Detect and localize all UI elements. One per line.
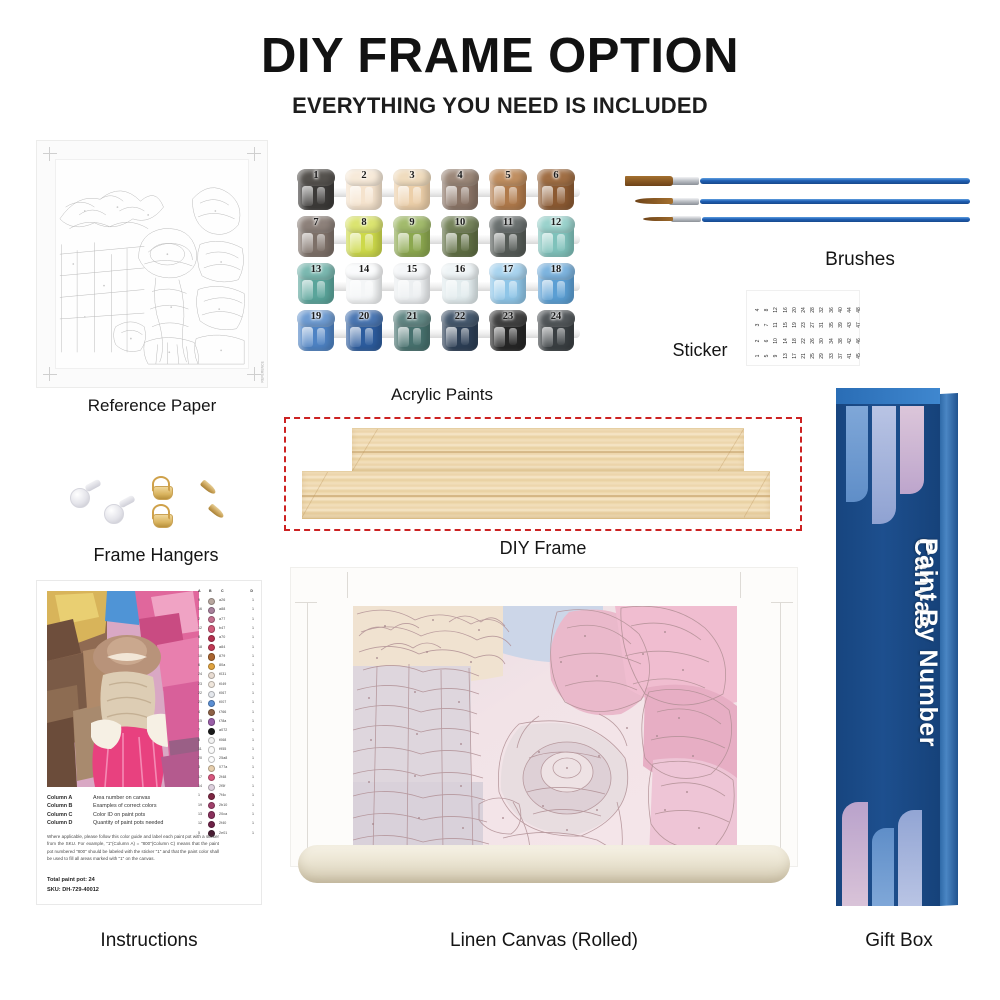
legend-area-number: 15	[198, 719, 202, 723]
acrylic-paints-group: 123456789101112131415161718192021222324	[296, 168, 588, 364]
sticker-number-15: 15	[783, 320, 789, 330]
paint-pot-highlight-2	[365, 328, 373, 345]
paint-pot-highlight	[542, 233, 553, 253]
sticker-number-22: 22	[801, 336, 807, 346]
legend-area-number: 17	[198, 775, 202, 779]
paint-pot-highlight	[302, 186, 313, 206]
legend-quantity: 1	[252, 803, 254, 807]
paint-pot-highlight-2	[317, 281, 325, 298]
paint-pot-number: 20	[344, 311, 384, 322]
legend-color-swatch	[208, 765, 215, 772]
sticker-number-12: 12	[773, 305, 779, 315]
gift-box-subtitle: Paint By Number	[872, 538, 940, 747]
sticker-number-4: 4	[755, 305, 761, 315]
legend-area-number: 20	[198, 756, 202, 760]
caption-diy-frame: DIY Frame	[284, 538, 802, 559]
instruction-column-row: Column DQuantity of paint pots needed	[47, 820, 199, 828]
legend-color-swatch	[208, 607, 215, 614]
legend-color-id: a26	[219, 598, 225, 602]
sticker-number-13: 13	[783, 351, 789, 361]
legend-color-id: 2f5f	[219, 784, 225, 788]
linen-canvas-image	[290, 567, 798, 905]
paint-pot-19: 19	[296, 310, 336, 352]
sticker-number-26: 26	[810, 336, 816, 346]
paint-pot-highlight-2	[461, 281, 469, 298]
paint-pot-highlight-2	[365, 281, 373, 298]
brushes-group	[625, 172, 970, 234]
legend-quantity: 1	[252, 682, 254, 686]
paint-pot-highlight-2	[557, 187, 565, 204]
legend-color-id: a70	[219, 635, 225, 639]
sticker-number-24: 24	[801, 305, 807, 315]
legend-color-swatch	[208, 811, 215, 818]
brush-flat	[625, 176, 970, 186]
caption-sticker: Sticker	[650, 340, 750, 361]
paint-pot-highlight	[350, 327, 361, 347]
sticker-number-16: 16	[783, 305, 789, 315]
sticker-number-5: 5	[764, 351, 770, 361]
legend-area-number: 16	[198, 607, 202, 611]
sticker-number-28: 28	[810, 305, 816, 315]
paint-pot-highlight	[542, 186, 553, 206]
screw-1	[200, 479, 218, 495]
paint-pot-22: 22	[440, 310, 480, 352]
legend-row: 15t78a1	[197, 718, 255, 727]
sticker-number-40: 40	[838, 305, 844, 315]
instruction-column-key: Column B	[47, 803, 72, 809]
legend-row: 12b471	[197, 625, 255, 634]
legend-color-swatch	[208, 756, 215, 763]
sticker-number-32: 32	[819, 305, 825, 315]
paint-pot-5: 5	[488, 169, 528, 211]
paint-pot-11: 11	[488, 216, 528, 258]
brush-liner	[625, 214, 970, 224]
legend-quantity: 1	[252, 691, 254, 695]
legend-header-row: A B C D	[197, 589, 255, 596]
paint-pot-highlight-2	[317, 328, 325, 345]
legend-row: 18a841	[197, 644, 255, 653]
sticker-number-27: 27	[810, 320, 816, 330]
legend-color-id: t007	[219, 700, 226, 704]
paint-pot-17: 17	[488, 263, 528, 305]
paint-pot-number: 24	[536, 311, 576, 322]
paint-pot-16: 16	[440, 263, 480, 305]
paint-pot-highlight-2	[317, 234, 325, 251]
paint-pot-highlight-2	[509, 281, 517, 298]
paint-pot-row: 192021222324	[296, 309, 588, 353]
paint-pot-highlight-2	[557, 281, 565, 298]
instructions-note: Where applicable, please follow this col…	[47, 833, 219, 862]
legend-color-id: 2b10	[219, 803, 227, 807]
sticker-number-7: 7	[764, 320, 770, 330]
reference-paper-side-text: REFERENCE	[260, 361, 264, 382]
caption-acrylic-paints: Acrylic Paints	[296, 385, 588, 405]
legend-header-c: C	[221, 589, 224, 593]
sticker-number-39: 39	[838, 320, 844, 330]
legend-header-b: B	[209, 589, 212, 593]
legend-quantity: 1	[252, 728, 254, 732]
paint-pot-number: 3	[392, 170, 432, 181]
paint-pot-3: 3	[392, 169, 432, 211]
paint-pot-highlight	[542, 327, 553, 347]
paint-pot-highlight	[494, 233, 505, 253]
sticker-number-1: 1	[755, 351, 761, 361]
legend-color-id: a77	[219, 617, 225, 621]
page-subtitle: EVERYTHING YOU NEED IS INCLUDED	[0, 93, 1000, 119]
legend-color-swatch	[208, 821, 215, 828]
paint-pot-highlight-2	[509, 328, 517, 345]
paint-pot-20: 20	[344, 310, 384, 352]
sticker-number-45: 45	[856, 351, 862, 361]
paint-pot-number: 18	[536, 264, 576, 275]
brush-round	[625, 196, 970, 206]
legend-color-swatch	[208, 793, 215, 800]
paint-pot-7: 7	[296, 216, 336, 258]
legend-color-swatch	[208, 598, 215, 605]
gift-box-front-panel: Canvas Paint By Number	[836, 388, 940, 906]
legend-color-swatch	[208, 653, 215, 660]
paint-pot-number: 4	[440, 170, 480, 181]
paint-pot-24: 24	[536, 310, 576, 352]
instructions-color-legend: A B C D 9a26116a8812a77112b4718a70118a84…	[197, 589, 255, 861]
paint-pot-highlight-2	[365, 187, 373, 204]
legend-color-swatch	[208, 663, 215, 670]
paint-pot-number: 7	[296, 217, 336, 228]
caption-gift-box: Gift Box	[836, 930, 962, 952]
sticker-sheet: 1234567891011121314151617181920212223242…	[746, 290, 860, 366]
caption-instructions: Instructions	[36, 930, 262, 952]
paint-pot-highlight-2	[509, 187, 517, 204]
paint-pot-4: 4	[440, 169, 480, 211]
legend-row: 2a771	[197, 616, 255, 625]
paint-pot-highlight-2	[557, 234, 565, 251]
canvas-sheet	[290, 567, 798, 867]
legend-header-a: A	[198, 589, 201, 593]
paint-pot-number: 5	[488, 170, 528, 181]
sticker-number-43: 43	[847, 320, 853, 330]
legend-area-number: 18	[198, 645, 202, 649]
legend-color-id: t955	[219, 747, 226, 751]
legend-area-number: 9	[198, 598, 200, 602]
paint-pot-number: 10	[440, 217, 480, 228]
legend-quantity: 1	[252, 700, 254, 704]
sticker-number-17: 17	[792, 351, 798, 361]
paint-pot-highlight-2	[509, 234, 517, 251]
paint-pot-highlight	[446, 233, 457, 253]
legend-color-swatch	[208, 700, 215, 707]
legend-color-id: 80a	[219, 663, 225, 667]
legend-quantity: 1	[252, 831, 254, 835]
legend-quantity: 1	[252, 645, 254, 649]
legend-row: 172f481	[197, 774, 255, 783]
paint-pot-highlight	[446, 186, 457, 206]
legend-row: 11t9551	[197, 746, 255, 755]
sticker-number-48: 48	[856, 305, 862, 315]
paint-pot-number: 12	[536, 217, 576, 228]
sticker-number-42: 42	[847, 336, 853, 346]
paint-pot-8: 8	[344, 216, 384, 258]
frame-hangers-group	[62, 470, 252, 536]
instruction-column-key: Column D	[47, 820, 72, 826]
paint-pot-highlight	[494, 186, 505, 206]
paint-pot-18: 18	[536, 263, 576, 305]
legend-color-swatch	[208, 635, 215, 642]
paint-pot-highlight	[494, 327, 505, 347]
paint-pot-highlight	[398, 186, 409, 206]
canvas-artwork-outline	[353, 606, 737, 856]
diy-frame-image	[284, 417, 802, 531]
sticker-number-37: 37	[838, 351, 844, 361]
caption-reference-paper: Reference Paper	[36, 396, 268, 416]
legend-row: 7a0721	[197, 727, 255, 736]
paint-pot-number: 1	[296, 170, 336, 181]
legend-color-swatch	[208, 737, 215, 744]
legend-color-id: t031	[219, 672, 226, 676]
paint-pot-row: 789101112	[296, 215, 588, 259]
paint-pot-highlight-2	[461, 187, 469, 204]
instruction-column-row: Column AArea number on canvas	[47, 795, 199, 803]
instruction-column-value: Examples of correct colors	[93, 803, 157, 809]
legend-quantity: 1	[252, 672, 254, 676]
legend-row: 2025a81	[197, 755, 255, 764]
paint-pot-15: 15	[392, 263, 432, 305]
legend-row: 4t7661	[197, 709, 255, 718]
sticker-number-3: 3	[755, 320, 761, 330]
legend-area-number: 23	[198, 682, 202, 686]
sticker-number-6: 6	[764, 336, 770, 346]
sticker-number-44: 44	[847, 305, 853, 315]
paint-pot-number: 23	[488, 311, 528, 322]
legend-quantity: 1	[252, 784, 254, 788]
paint-pot-highlight	[302, 280, 313, 300]
legend-row: 16a881	[197, 606, 255, 615]
paint-pot-number: 21	[392, 311, 432, 322]
paint-pot-number: 8	[344, 217, 384, 228]
legend-color-id: 077a	[219, 765, 227, 769]
legend-color-swatch	[208, 746, 215, 753]
legend-quantity: 1	[252, 812, 254, 816]
legend-color-id: 2f48	[219, 775, 226, 779]
instruction-column-value: Color ID on paint pots	[93, 812, 145, 818]
paint-pot-highlight-2	[413, 187, 421, 204]
paint-pot-number: 15	[392, 264, 432, 275]
sticker-number-47: 47	[856, 320, 862, 330]
paint-pot-number: 19	[296, 311, 336, 322]
legend-color-id: a88	[219, 607, 225, 611]
legend-header-d: D	[250, 589, 253, 593]
stretcher-bar-1	[352, 428, 744, 473]
legend-quantity: 1	[252, 710, 254, 714]
legend-area-number: 24	[198, 672, 202, 676]
legend-quantity: 1	[252, 738, 254, 742]
legend-quantity: 1	[252, 663, 254, 667]
sticker-number-23: 23	[801, 320, 807, 330]
legend-area-number: 2	[198, 617, 200, 621]
sticker-number-9: 9	[773, 351, 779, 361]
sticker-number-34: 34	[829, 336, 835, 346]
legend-color-swatch	[208, 691, 215, 698]
legend-row: 3077a1	[197, 764, 255, 773]
paint-pot-number: 17	[488, 264, 528, 275]
instruction-column-row: Column BExamples of correct colors	[47, 803, 199, 811]
legend-color-swatch	[208, 802, 215, 809]
legend-row: 142f5f1	[197, 783, 255, 792]
legend-area-number: 21	[198, 700, 202, 704]
legend-color-swatch	[208, 616, 215, 623]
sticker-number-41: 41	[847, 351, 853, 361]
legend-color-id: 879	[219, 654, 225, 658]
legend-color-swatch	[208, 681, 215, 688]
sticker-number-33: 33	[829, 351, 835, 361]
instruction-column-value: Area number on canvas	[93, 795, 150, 801]
paint-pot-highlight-2	[461, 328, 469, 345]
legend-quantity: 1	[252, 756, 254, 760]
sticker-number-36: 36	[829, 305, 835, 315]
legend-area-number: 10	[198, 654, 202, 658]
paint-pot-1: 1	[296, 169, 336, 211]
legend-color-swatch	[208, 774, 215, 781]
legend-area-number: 22	[198, 691, 202, 695]
legend-quantity: 1	[252, 747, 254, 751]
instructions-total-pots: Total paint pot: 24	[47, 877, 95, 883]
paint-pot-highlight-2	[461, 234, 469, 251]
legend-color-swatch	[208, 709, 215, 716]
legend-color-id: t766	[219, 710, 226, 714]
legend-area-number: 6	[198, 663, 200, 667]
paint-pot-row: 123456	[296, 168, 588, 212]
legend-color-id: t068	[219, 738, 226, 742]
legend-row: 9a261	[197, 597, 255, 606]
sticker-number-2: 2	[755, 336, 761, 346]
paint-pot-14: 14	[344, 263, 384, 305]
paint-pot-highlight-2	[317, 187, 325, 204]
legend-area-number: 14	[198, 784, 202, 788]
reference-paper-image: REFERENCE	[36, 140, 268, 388]
legend-color-swatch	[208, 784, 215, 791]
legend-color-swatch	[208, 718, 215, 725]
legend-area-number: 7	[198, 728, 200, 732]
paint-pot-number: 2	[344, 170, 384, 181]
instruction-column-value: Quantity of paint pots needed	[93, 820, 163, 826]
instructions-card: A B C D 9a26116a8812a77112b4718a70118a84…	[36, 580, 262, 905]
instructions-column-key: Column AArea number on canvasColumn BExa…	[47, 795, 199, 829]
instruction-column-key: Column C	[47, 812, 72, 818]
instruction-column-key: Column A	[47, 795, 72, 801]
legend-area-number: 5	[198, 738, 200, 742]
legend-row: 21t0071	[197, 699, 255, 708]
legend-quantity: 1	[252, 607, 254, 611]
sticker-number-30: 30	[819, 336, 825, 346]
instruction-column-row: Column CColor ID on paint pots	[47, 812, 199, 820]
paint-pot-highlight-2	[413, 328, 421, 345]
sticker-number-8: 8	[764, 305, 770, 315]
paint-pot-10: 10	[440, 216, 480, 258]
legend-color-swatch	[208, 644, 215, 651]
instructions-artwork	[47, 591, 199, 787]
legend-color-id: t049	[219, 682, 226, 686]
paint-pot-highlight-2	[413, 281, 421, 298]
sticker-number-29: 29	[819, 351, 825, 361]
legend-row: 680a1	[197, 662, 255, 671]
paint-pot-highlight	[446, 327, 457, 347]
legend-row: 122f401	[197, 820, 255, 829]
legend-quantity: 1	[252, 821, 254, 825]
legend-area-number: 8	[198, 635, 200, 639]
legend-row: 17f4c1	[197, 792, 255, 801]
sticker-number-35: 35	[829, 320, 835, 330]
sticker-number-46: 46	[856, 336, 862, 346]
legend-area-number: 4	[198, 710, 200, 714]
paint-pot-highlight	[398, 233, 409, 253]
caption-frame-hangers: Frame Hangers	[36, 545, 276, 566]
legend-row: 24t0311	[197, 671, 255, 680]
legend-row: 8a701	[197, 634, 255, 643]
legend-quantity: 1	[252, 626, 254, 630]
legend-area-number: 12	[198, 626, 202, 630]
paint-pot-6: 6	[536, 169, 576, 211]
sticker-number-21: 21	[801, 351, 807, 361]
legend-row: 1320ca1	[197, 811, 255, 820]
legend-color-swatch	[208, 625, 215, 632]
legend-color-id: 2f40	[219, 821, 226, 825]
legend-color-id: a072	[219, 728, 227, 732]
instructions-sku: SKU: DH-729-40012	[47, 887, 99, 893]
paint-pot-highlight	[398, 327, 409, 347]
legend-quantity: 1	[252, 775, 254, 779]
legend-row: 22t0671	[197, 690, 255, 699]
canvas-roll	[298, 845, 790, 883]
paint-pot-highlight-2	[413, 234, 421, 251]
paint-pot-12: 12	[536, 216, 576, 258]
sticker-number-25: 25	[810, 351, 816, 361]
page-title: DIY FRAME OPTION	[0, 28, 1000, 84]
sticker-number-14: 14	[783, 336, 789, 346]
legend-color-id: t78a	[219, 719, 226, 723]
legend-quantity: 1	[252, 635, 254, 639]
sticker-number-19: 19	[792, 320, 798, 330]
paint-pot-23: 23	[488, 310, 528, 352]
paint-pot-13: 13	[296, 263, 336, 305]
paint-pot-21: 21	[392, 310, 432, 352]
legend-color-id: 2e01	[219, 831, 227, 835]
legend-row: 5t0681	[197, 737, 255, 746]
paint-pot-number: 11	[488, 217, 528, 228]
legend-color-id: t067	[219, 691, 226, 695]
legend-area-number: 11	[198, 747, 202, 751]
paint-pot-number: 9	[392, 217, 432, 228]
legend-color-id: 25a8	[219, 756, 227, 760]
legend-quantity: 1	[252, 719, 254, 723]
paint-pot-highlight	[350, 280, 361, 300]
paint-pot-highlight-2	[557, 328, 565, 345]
legend-quantity: 1	[252, 617, 254, 621]
paint-pot-number: 22	[440, 311, 480, 322]
caption-linen-canvas: Linen Canvas (Rolled)	[290, 930, 798, 952]
paint-pot-highlight	[398, 280, 409, 300]
paint-pot-2: 2	[344, 169, 384, 211]
legend-quantity: 1	[252, 598, 254, 602]
paint-pot-highlight	[350, 186, 361, 206]
screw-2	[208, 503, 226, 519]
paint-pot-number: 16	[440, 264, 480, 275]
legend-row: 23t0491	[197, 681, 255, 690]
gift-box-side-panel	[940, 393, 958, 906]
legend-color-id: b47	[219, 626, 225, 630]
paint-pot-highlight	[542, 280, 553, 300]
infographic-page: DIY FRAME OPTION EVERYTHING YOU NEED IS …	[0, 0, 1000, 1000]
stretcher-bar-2	[302, 471, 770, 519]
paint-pot-highlight	[350, 233, 361, 253]
